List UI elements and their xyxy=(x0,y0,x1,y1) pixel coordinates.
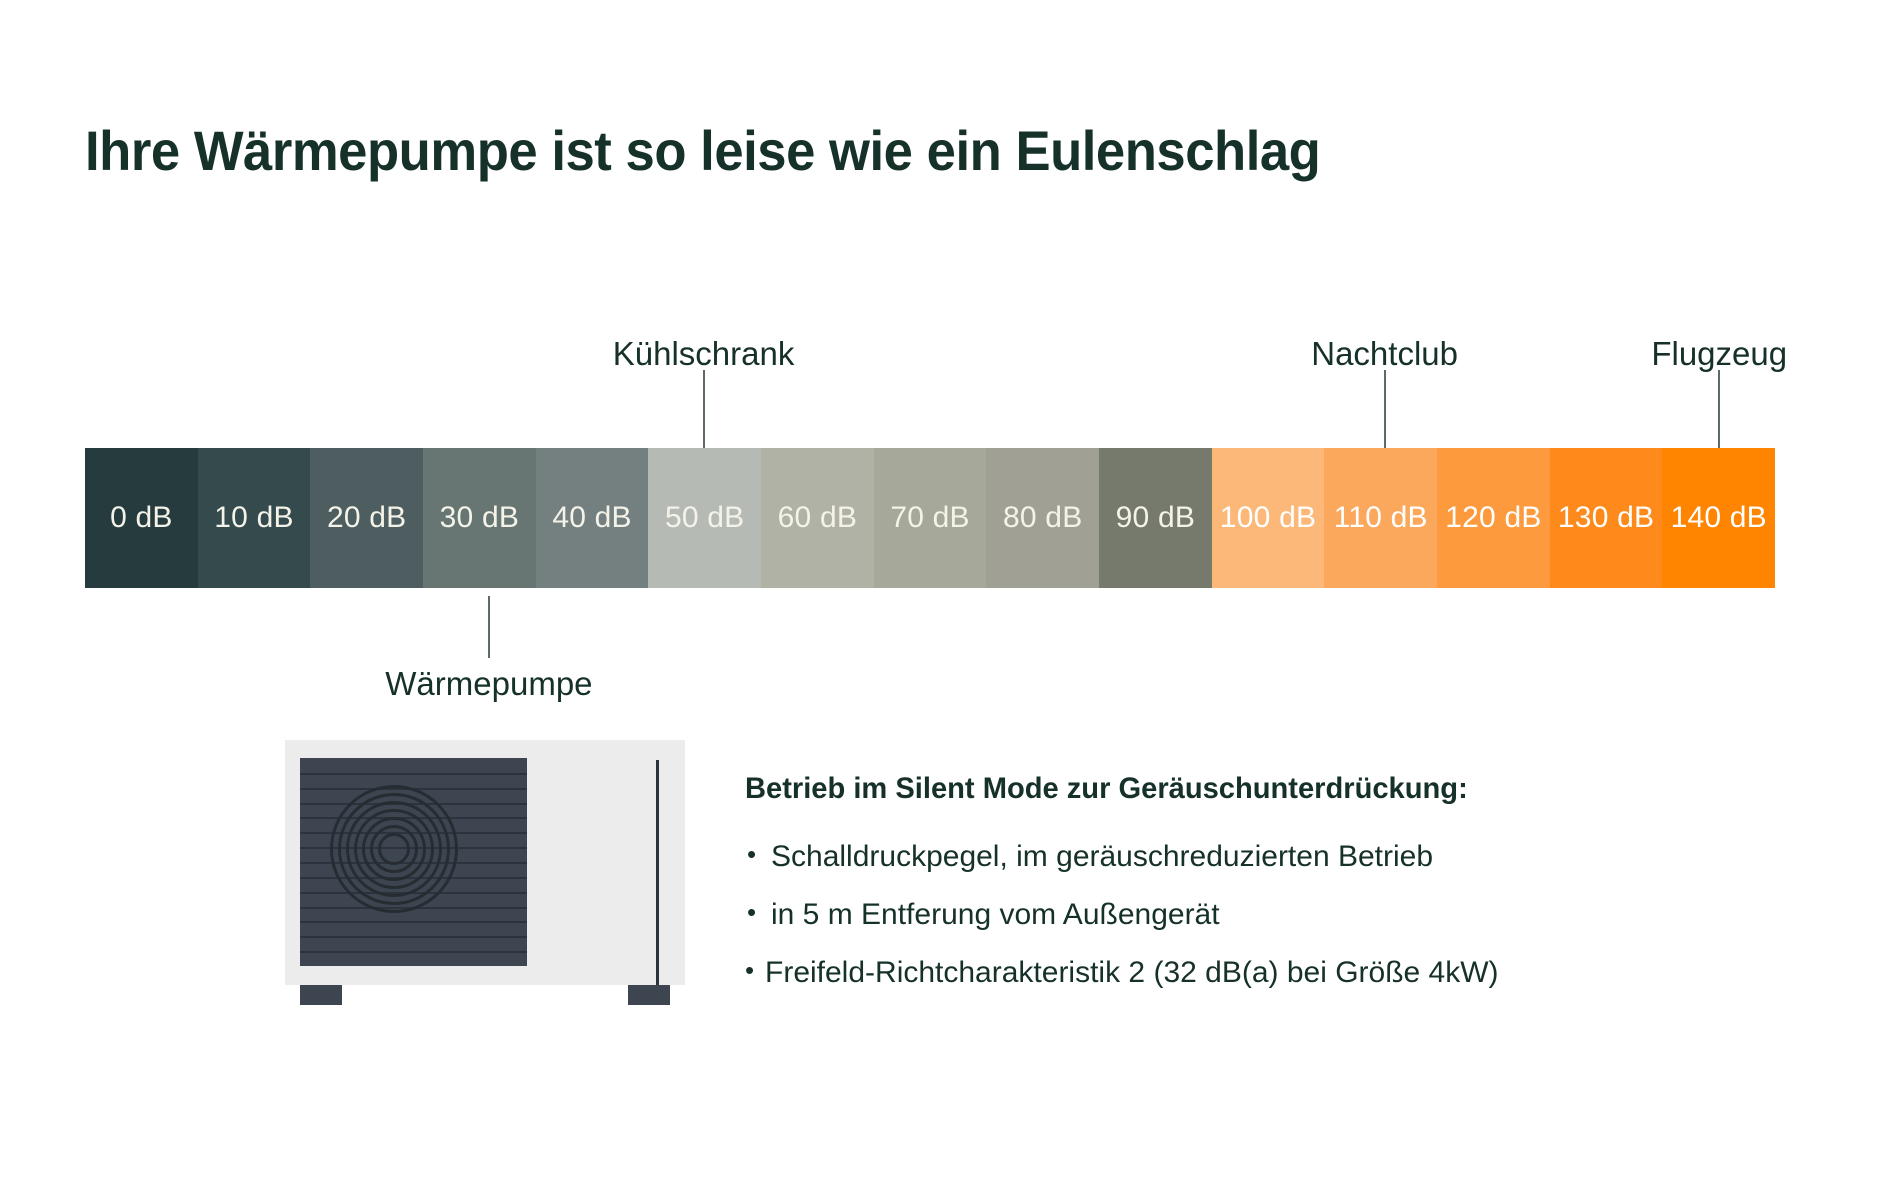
scale-segment: 140 dB xyxy=(1662,448,1775,588)
grille-slat xyxy=(300,773,527,775)
callout-nachtclub-label: Nachtclub xyxy=(1311,335,1458,373)
page-title: Ihre Wärmepumpe ist so leise wie ein Eul… xyxy=(85,118,1320,183)
scale-segment-label: 50 dB xyxy=(665,501,744,535)
scale-segment: 80 dB xyxy=(986,448,1099,588)
scale-segment: 130 dB xyxy=(1550,448,1663,588)
info-bullet-list: Schalldruckpegel, im geräuschreduzierten… xyxy=(745,840,1805,990)
info-bullet-item: Schalldruckpegel, im geräuschreduzierten… xyxy=(745,840,1805,874)
scale-segment-label: 100 dB xyxy=(1220,501,1316,535)
scale-segment-label: 20 dB xyxy=(327,501,406,535)
scale-segment-label: 60 dB xyxy=(778,501,857,535)
scale-segment: 40 dB xyxy=(536,448,649,588)
silent-mode-info: Betrieb im Silent Mode zur Geräuschunter… xyxy=(745,772,1805,1014)
scale-segment: 110 dB xyxy=(1324,448,1437,588)
scale-segment: 120 dB xyxy=(1437,448,1550,588)
scale-segment: 70 dB xyxy=(874,448,987,588)
scale-segment-label: 10 dB xyxy=(214,501,293,535)
scale-segment-label: 90 dB xyxy=(1116,501,1195,535)
info-heading: Betrieb im Silent Mode zur Geräuschunter… xyxy=(745,772,1773,806)
fan-ring xyxy=(378,833,410,865)
scale-segment: 90 dB xyxy=(1099,448,1212,588)
scale-segment-label: 30 dB xyxy=(440,501,519,535)
scale-segment-label: 40 dB xyxy=(552,501,631,535)
scale-segment-label: 130 dB xyxy=(1558,501,1654,535)
decibel-scale-bar: 0 dB10 dB20 dB30 dB40 dB50 dB60 dB70 dB8… xyxy=(85,448,1775,588)
scale-segment: 10 dB xyxy=(198,448,311,588)
scale-segment-label: 110 dB xyxy=(1334,501,1428,535)
callout-kuehlschrank-label: Kühlschrank xyxy=(613,335,795,373)
heat-pump-foot-left xyxy=(300,985,342,1005)
callout-kuehlschrank-tick xyxy=(703,370,705,448)
scale-segment-label: 140 dB xyxy=(1671,501,1767,535)
callout-flugzeug-tick xyxy=(1718,370,1720,448)
scale-segment: 0 dB xyxy=(85,448,198,588)
callout-nachtclub-tick xyxy=(1384,370,1386,448)
callout-flugzeug-label: Flugzeug xyxy=(1651,335,1787,373)
info-bullet-item: in 5 m Entferung vom Außengerät xyxy=(745,898,1805,932)
callout-waermepumpe-label: Wärmepumpe xyxy=(385,665,592,703)
scale-segment: 100 dB xyxy=(1212,448,1325,588)
scale-segment: 50 dB xyxy=(648,448,761,588)
scale-segment: 30 dB xyxy=(423,448,536,588)
scale-segment: 20 dB xyxy=(310,448,423,588)
grille-slat xyxy=(300,921,527,923)
scale-segment-label: 0 dB xyxy=(110,501,173,535)
scale-segment-label: 70 dB xyxy=(890,501,969,535)
scale-segment-label: 80 dB xyxy=(1003,501,1082,535)
info-bullet-item: Freifeld-Richtcharakteristik 2 (32 dB(a)… xyxy=(745,956,1805,990)
heat-pump-illustration xyxy=(285,740,685,1010)
scale-segment: 60 dB xyxy=(761,448,874,588)
infographic-canvas: Ihre Wärmepumpe ist so leise wie ein Eul… xyxy=(0,0,1880,1200)
callout-waermepumpe-tick xyxy=(488,596,490,658)
heat-pump-seam xyxy=(656,760,659,985)
heat-pump-foot-right xyxy=(628,985,670,1005)
scale-segment-label: 120 dB xyxy=(1445,501,1541,535)
grille-slat xyxy=(300,936,527,938)
grille-slat xyxy=(300,951,527,953)
heat-pump-fan-icon xyxy=(330,785,458,913)
